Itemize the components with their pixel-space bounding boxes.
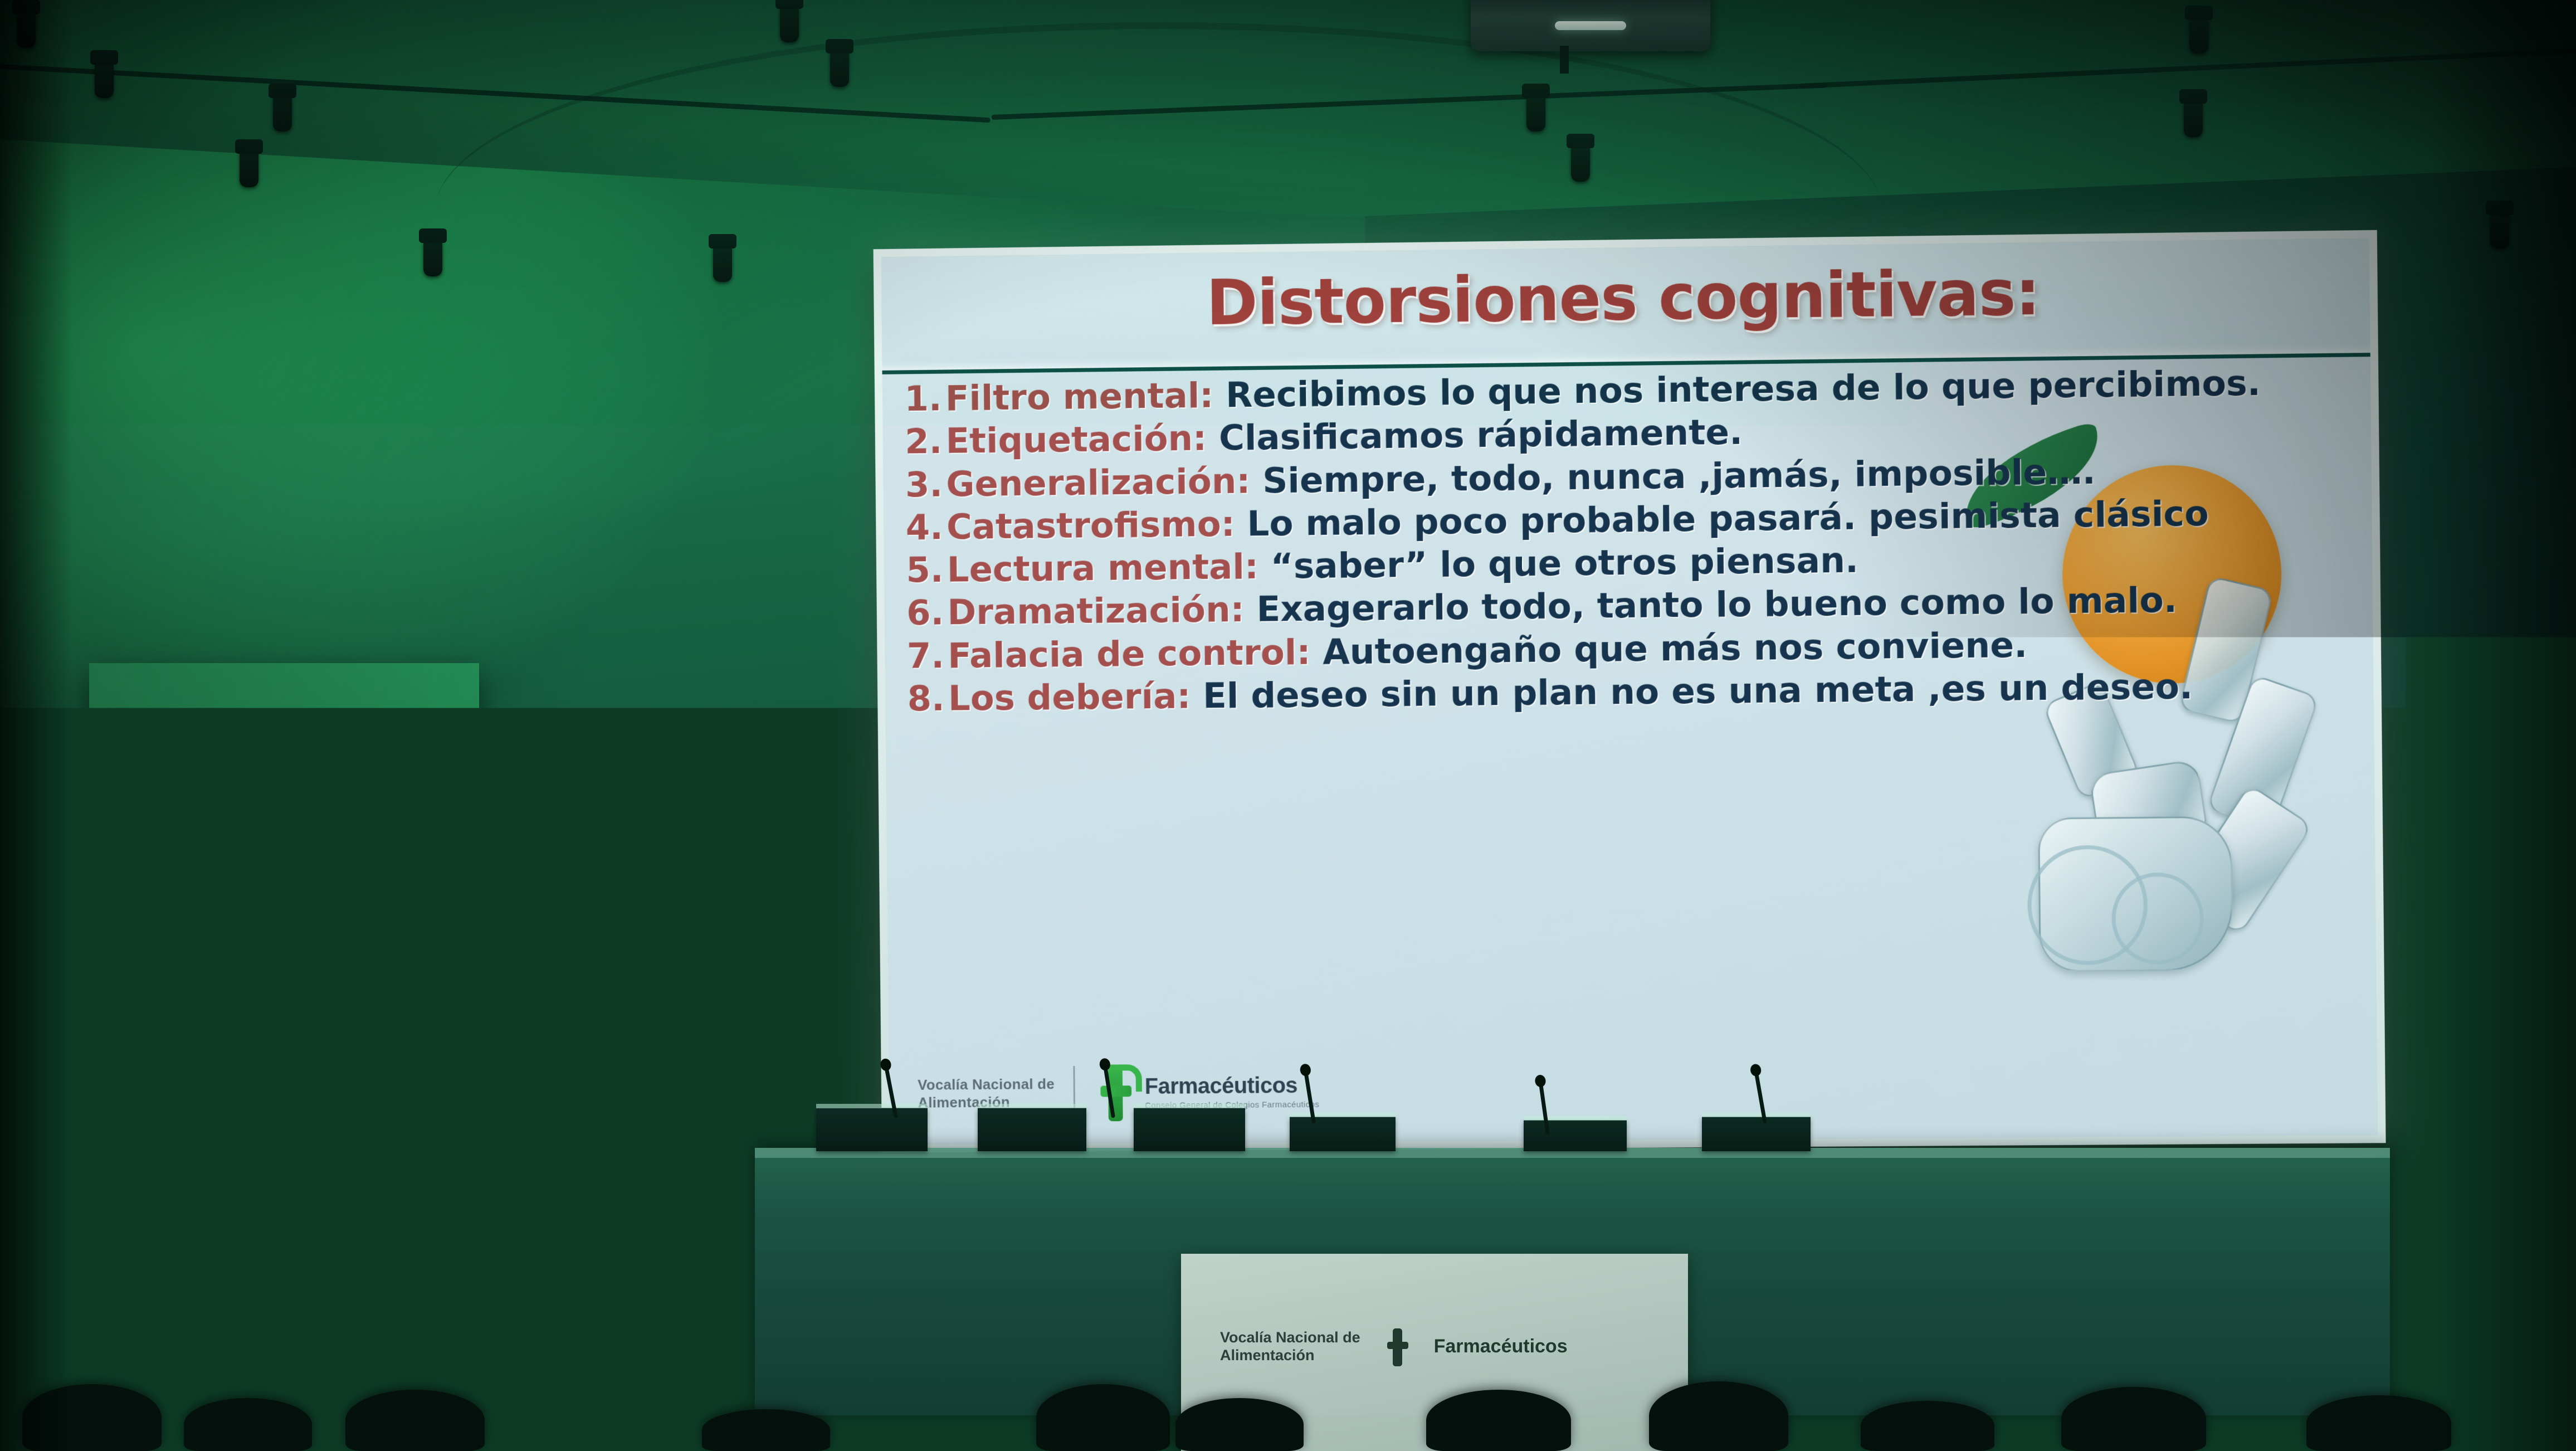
right-edge-shadow	[2431, 0, 2576, 1451]
audience-head	[1861, 1401, 1994, 1451]
list-item-desc: Exagerarlo todo, tanto lo bueno como lo …	[1244, 580, 2177, 630]
spotlight-icon	[780, 6, 799, 42]
list-item-term: Lectura mental:	[947, 546, 1258, 590]
projection-screen: Distorsiones cognitivas:	[874, 230, 2386, 1153]
left-edge-shadow	[0, 0, 72, 1451]
photo-scene: Distorsiones cognitivas:	[0, 0, 2576, 1451]
audience-head	[1426, 1390, 1571, 1451]
nameplate	[1702, 1117, 1811, 1151]
list-item-term: Los debería:	[948, 676, 1191, 719]
list-item-number: 8.	[907, 679, 948, 718]
slide-surface: Distorsiones cognitivas:	[881, 238, 2378, 1145]
audience-row	[0, 1345, 2576, 1451]
spotlight-icon	[2184, 100, 2203, 137]
list-item-number: 1.	[904, 379, 945, 418]
list-item-number: 7.	[907, 636, 948, 675]
list-item-number: 2.	[905, 422, 946, 461]
audience-head	[1036, 1384, 1170, 1451]
list-item-desc: Clasificamos rápidamente.	[1207, 412, 1743, 459]
list-item-term: Dramatización:	[947, 590, 1245, 633]
presenter-hair	[248, 776, 348, 826]
list-item-term: Filtro mental:	[945, 375, 1214, 418]
spotlight-icon	[240, 150, 258, 187]
spotlight-icon	[830, 50, 849, 87]
audience-head	[702, 1409, 830, 1451]
list-item-number: 4.	[905, 508, 947, 547]
list-item-term: Falacia de control:	[948, 631, 1311, 675]
audience-head	[1175, 1398, 1304, 1451]
spotlight-icon	[423, 240, 442, 276]
slide-title-band: Distorsiones cognitivas:	[881, 238, 2370, 374]
projector-mount	[1560, 46, 1569, 74]
list-item-number: 5.	[906, 551, 947, 590]
nameplate	[816, 1108, 928, 1151]
list-item-number: 3.	[905, 465, 947, 504]
list-item-desc: Autoengaño que más nos conviene.	[1310, 625, 2027, 673]
list-item-desc: “saber” lo que otros piensan.	[1258, 540, 1859, 587]
list-item-desc: Lo malo poco probable pasará. pesimista …	[1235, 493, 2209, 544]
nameplate	[1524, 1120, 1627, 1151]
f-monogram-icon	[1094, 1063, 1137, 1121]
slide-title: Distorsiones cognitivas:	[881, 252, 2370, 343]
nameplate	[978, 1108, 1086, 1151]
backdrop-vocalia-line-1: Vocalía Nacional de	[1220, 1328, 1360, 1346]
list-item-desc: Recibimos lo que nos interesa de lo que …	[1213, 362, 2261, 415]
audience-head	[2306, 1395, 2451, 1451]
list-item-term: Catastrofismo:	[947, 504, 1235, 547]
spotlight-icon	[95, 61, 114, 98]
f-bar	[1100, 1085, 1131, 1097]
nameplate	[1134, 1108, 1245, 1151]
audience-head	[2061, 1387, 2206, 1451]
ceiling-projector	[1471, 0, 1710, 51]
presenter-right-arm	[326, 927, 427, 1102]
audience-head	[1649, 1381, 1788, 1451]
spotlight-icon	[273, 95, 292, 132]
vocalia-line-1: Vocalía Nacional de	[918, 1075, 1055, 1094]
list-item-term: Generalización:	[946, 460, 1251, 504]
audience-head	[184, 1398, 312, 1451]
list-item-number: 6.	[906, 593, 948, 632]
nameplate	[1290, 1117, 1396, 1151]
presenter-silhouette	[167, 775, 435, 1393]
projector-lens-icon	[1555, 21, 1626, 30]
list-item-desc: Siempre, todo, nunca ,jamás, imposible….	[1250, 451, 2096, 501]
farmaceuticos-wordmark: Farmacéuticos	[1145, 1073, 1320, 1099]
audience-head	[345, 1390, 485, 1451]
spotlight-icon	[1526, 95, 1545, 132]
spotlight-icon	[1571, 145, 1590, 182]
list-item-term: Etiquetación:	[945, 418, 1207, 461]
list-item-desc: El deseo sin un plan no es una meta ,es …	[1191, 666, 2193, 716]
spotlight-icon	[2189, 17, 2208, 53]
slide-body-list: 1. Filtro mental: Recibimos lo que nos i…	[904, 362, 2364, 1145]
wall-sconce-icon	[713, 245, 732, 282]
